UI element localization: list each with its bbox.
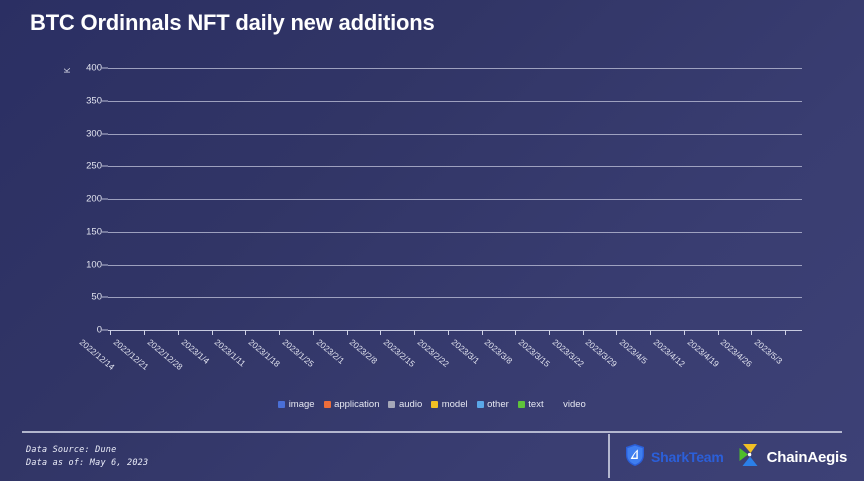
legend-item-application[interactable]: application: [324, 399, 380, 410]
x-tick-label: 2023/2/8: [348, 337, 380, 366]
x-tick-mark: [684, 330, 685, 335]
legend-swatch-text: [518, 401, 525, 408]
x-tick-label: 2023/4/12: [651, 337, 686, 369]
x-tick-label: 2023/2/15: [382, 337, 417, 369]
x-tick-mark: [751, 330, 752, 335]
y-tick-label: 350: [86, 95, 102, 106]
x-tick-mark: [718, 330, 719, 335]
legend-swatch-other: [477, 401, 484, 408]
x-tick-label: 2023/1/18: [247, 337, 282, 369]
x-tick-mark: [212, 330, 213, 335]
shark-shield-icon: [624, 443, 646, 472]
x-tick-label: 2023/1/4: [179, 337, 211, 366]
chart-legend: imageapplicationaudiomodelothertextvideo: [0, 399, 864, 410]
legend-item-text[interactable]: text: [518, 399, 544, 410]
page-title: BTC Ordinnals NFT daily new additions: [30, 10, 435, 36]
legend-item-audio[interactable]: audio: [388, 399, 422, 410]
x-tick-mark: [347, 330, 348, 335]
x-tick-mark: [448, 330, 449, 335]
bar-column: [796, 68, 801, 330]
legend-label: other: [487, 399, 509, 410]
x-tick-mark: [414, 330, 415, 335]
x-tick-mark: [313, 330, 314, 335]
x-tick-mark: [110, 330, 111, 335]
footer-notes: Data Source: Dune Data as of: May 6, 202…: [26, 444, 148, 470]
y-tick-label: 250: [86, 161, 102, 172]
chart-container: K 400350300250200150100500 2022/12/14202…: [0, 55, 864, 395]
x-tick-mark: [549, 330, 550, 335]
x-tick-label: 2023/3/29: [584, 337, 619, 369]
legend-swatch-video: [553, 401, 560, 408]
legend-label: model: [442, 399, 468, 410]
legend-item-image[interactable]: image: [278, 399, 314, 410]
brand-logos: SharkTeam ChainAegis: [624, 440, 847, 474]
x-tick-label: 2023/1/25: [280, 337, 315, 369]
x-tick-mark: [482, 330, 483, 335]
x-tick-mark: [650, 330, 651, 335]
legend-label: audio: [399, 399, 422, 410]
chainaegis-logo: ChainAegis: [738, 442, 848, 473]
legend-swatch-model: [431, 401, 438, 408]
x-tick-label: 2023/3/1: [449, 337, 481, 366]
legend-label: application: [334, 399, 379, 410]
y-tick-label: 100: [86, 259, 102, 270]
legend-swatch-application: [324, 401, 331, 408]
legend-label: video: [563, 399, 586, 410]
legend-swatch-audio: [388, 401, 395, 408]
x-tick-mark: [245, 330, 246, 335]
x-tick-mark: [515, 330, 516, 335]
x-tick-label: 2023/4/26: [719, 337, 754, 369]
x-tick-mark: [144, 330, 145, 335]
footer-divider-vertical: [608, 434, 610, 478]
x-tick-label: 2023/5/3: [753, 337, 785, 366]
y-axis: 400350300250200150100500: [72, 68, 102, 330]
x-tick-label: 2023/3/8: [483, 337, 515, 366]
x-tick-mark: [279, 330, 280, 335]
x-tick-mark: [583, 330, 584, 335]
bar-series-layer: [108, 68, 802, 330]
data-as-of-text: Data as of: May 6, 2023: [26, 457, 148, 470]
x-tick-label: 2023/1/11: [213, 337, 248, 369]
x-tick-mark: [616, 330, 617, 335]
footer-divider-horizontal: [22, 431, 842, 433]
y-tick-label: 200: [86, 194, 102, 205]
y-tick-label: 150: [86, 226, 102, 237]
x-tick-label: 2023/4/5: [618, 337, 650, 366]
x-tick-mark: [380, 330, 381, 335]
chainaegis-logo-text: ChainAegis: [767, 449, 848, 466]
data-source-text: Data Source: Dune: [26, 444, 148, 457]
x-tick-label: 2023/2/22: [415, 337, 450, 369]
sharkteam-logo-text: SharkTeam: [651, 449, 724, 465]
y-tick-label: 300: [86, 128, 102, 139]
x-tick-label: 2023/4/19: [685, 337, 720, 369]
legend-swatch-image: [278, 401, 285, 408]
y-tick-label: 50: [91, 292, 102, 303]
x-tick-label: 2022/12/21: [112, 337, 151, 372]
plot-area: [108, 68, 802, 330]
legend-item-other[interactable]: other: [477, 399, 509, 410]
x-axis: 2022/12/142022/12/212022/12/282023/1/420…: [108, 330, 802, 400]
legend-label: image: [289, 399, 315, 410]
x-tick-mark: [178, 330, 179, 335]
hourglass-icon: [738, 442, 762, 473]
legend-item-model[interactable]: model: [431, 399, 467, 410]
x-tick-label: 2023/2/1: [314, 337, 346, 366]
y-axis-unit-label: K: [63, 68, 72, 73]
y-tick-label: 400: [86, 63, 102, 74]
x-tick-label: 2023/3/15: [517, 337, 552, 369]
x-tick-label: 2022/12/28: [145, 337, 184, 372]
x-tick-label: 2023/3/22: [550, 337, 585, 369]
sharkteam-logo: SharkTeam: [624, 443, 724, 472]
legend-item-video[interactable]: video: [553, 399, 586, 410]
x-tick-mark: [785, 330, 786, 335]
x-tick-label: 2022/12/14: [78, 337, 117, 372]
legend-label: text: [528, 399, 543, 410]
